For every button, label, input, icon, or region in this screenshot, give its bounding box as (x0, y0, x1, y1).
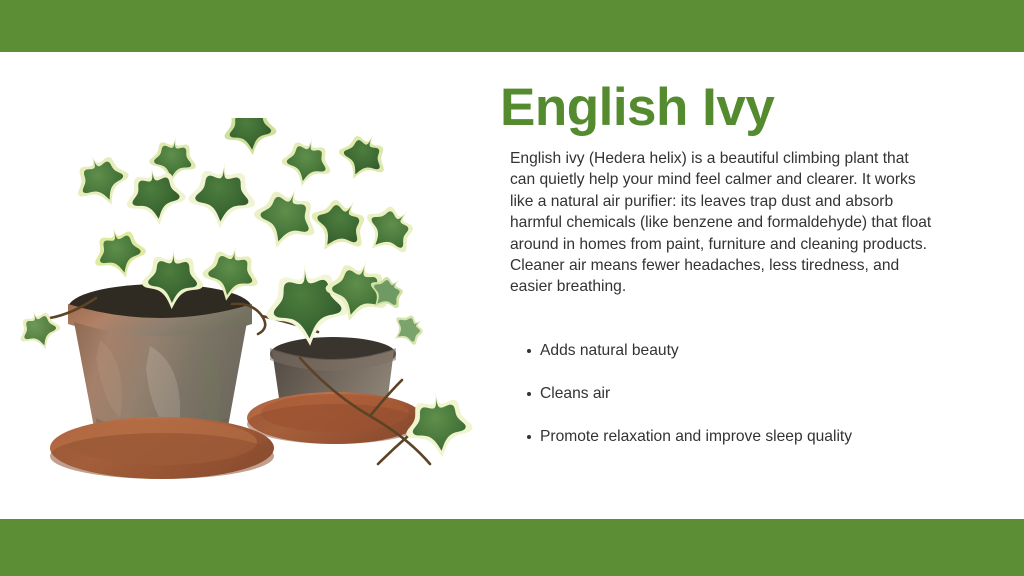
list-item: Adds natural beauty (500, 336, 920, 365)
bullet-icon (527, 392, 531, 396)
text-column: English Ivy English ivy (Hedera helix) i… (500, 80, 945, 465)
list-item-label: Adds natural beauty (540, 342, 679, 359)
list-item: Promote relaxation and improve sleep qua… (500, 422, 920, 451)
english-ivy-plant-image (0, 118, 512, 514)
list-item-label: Cleans air (540, 385, 610, 402)
list-item: Cleans air (500, 379, 920, 408)
page-title: English Ivy (500, 80, 945, 136)
top-green-band (0, 0, 1024, 52)
front-pot (50, 284, 274, 479)
bullet-icon (527, 435, 531, 439)
bottom-green-band (0, 519, 1024, 576)
bullet-icon (527, 349, 531, 353)
description-paragraph: English ivy (Hedera helix) is a beautifu… (510, 148, 934, 298)
list-item-label: Promote relaxation and improve sleep qua… (540, 428, 852, 445)
benefits-list: Adds natural beauty Cleans air Promote r… (500, 336, 920, 451)
slide-canvas: English Ivy English ivy (Hedera helix) i… (0, 0, 1024, 576)
